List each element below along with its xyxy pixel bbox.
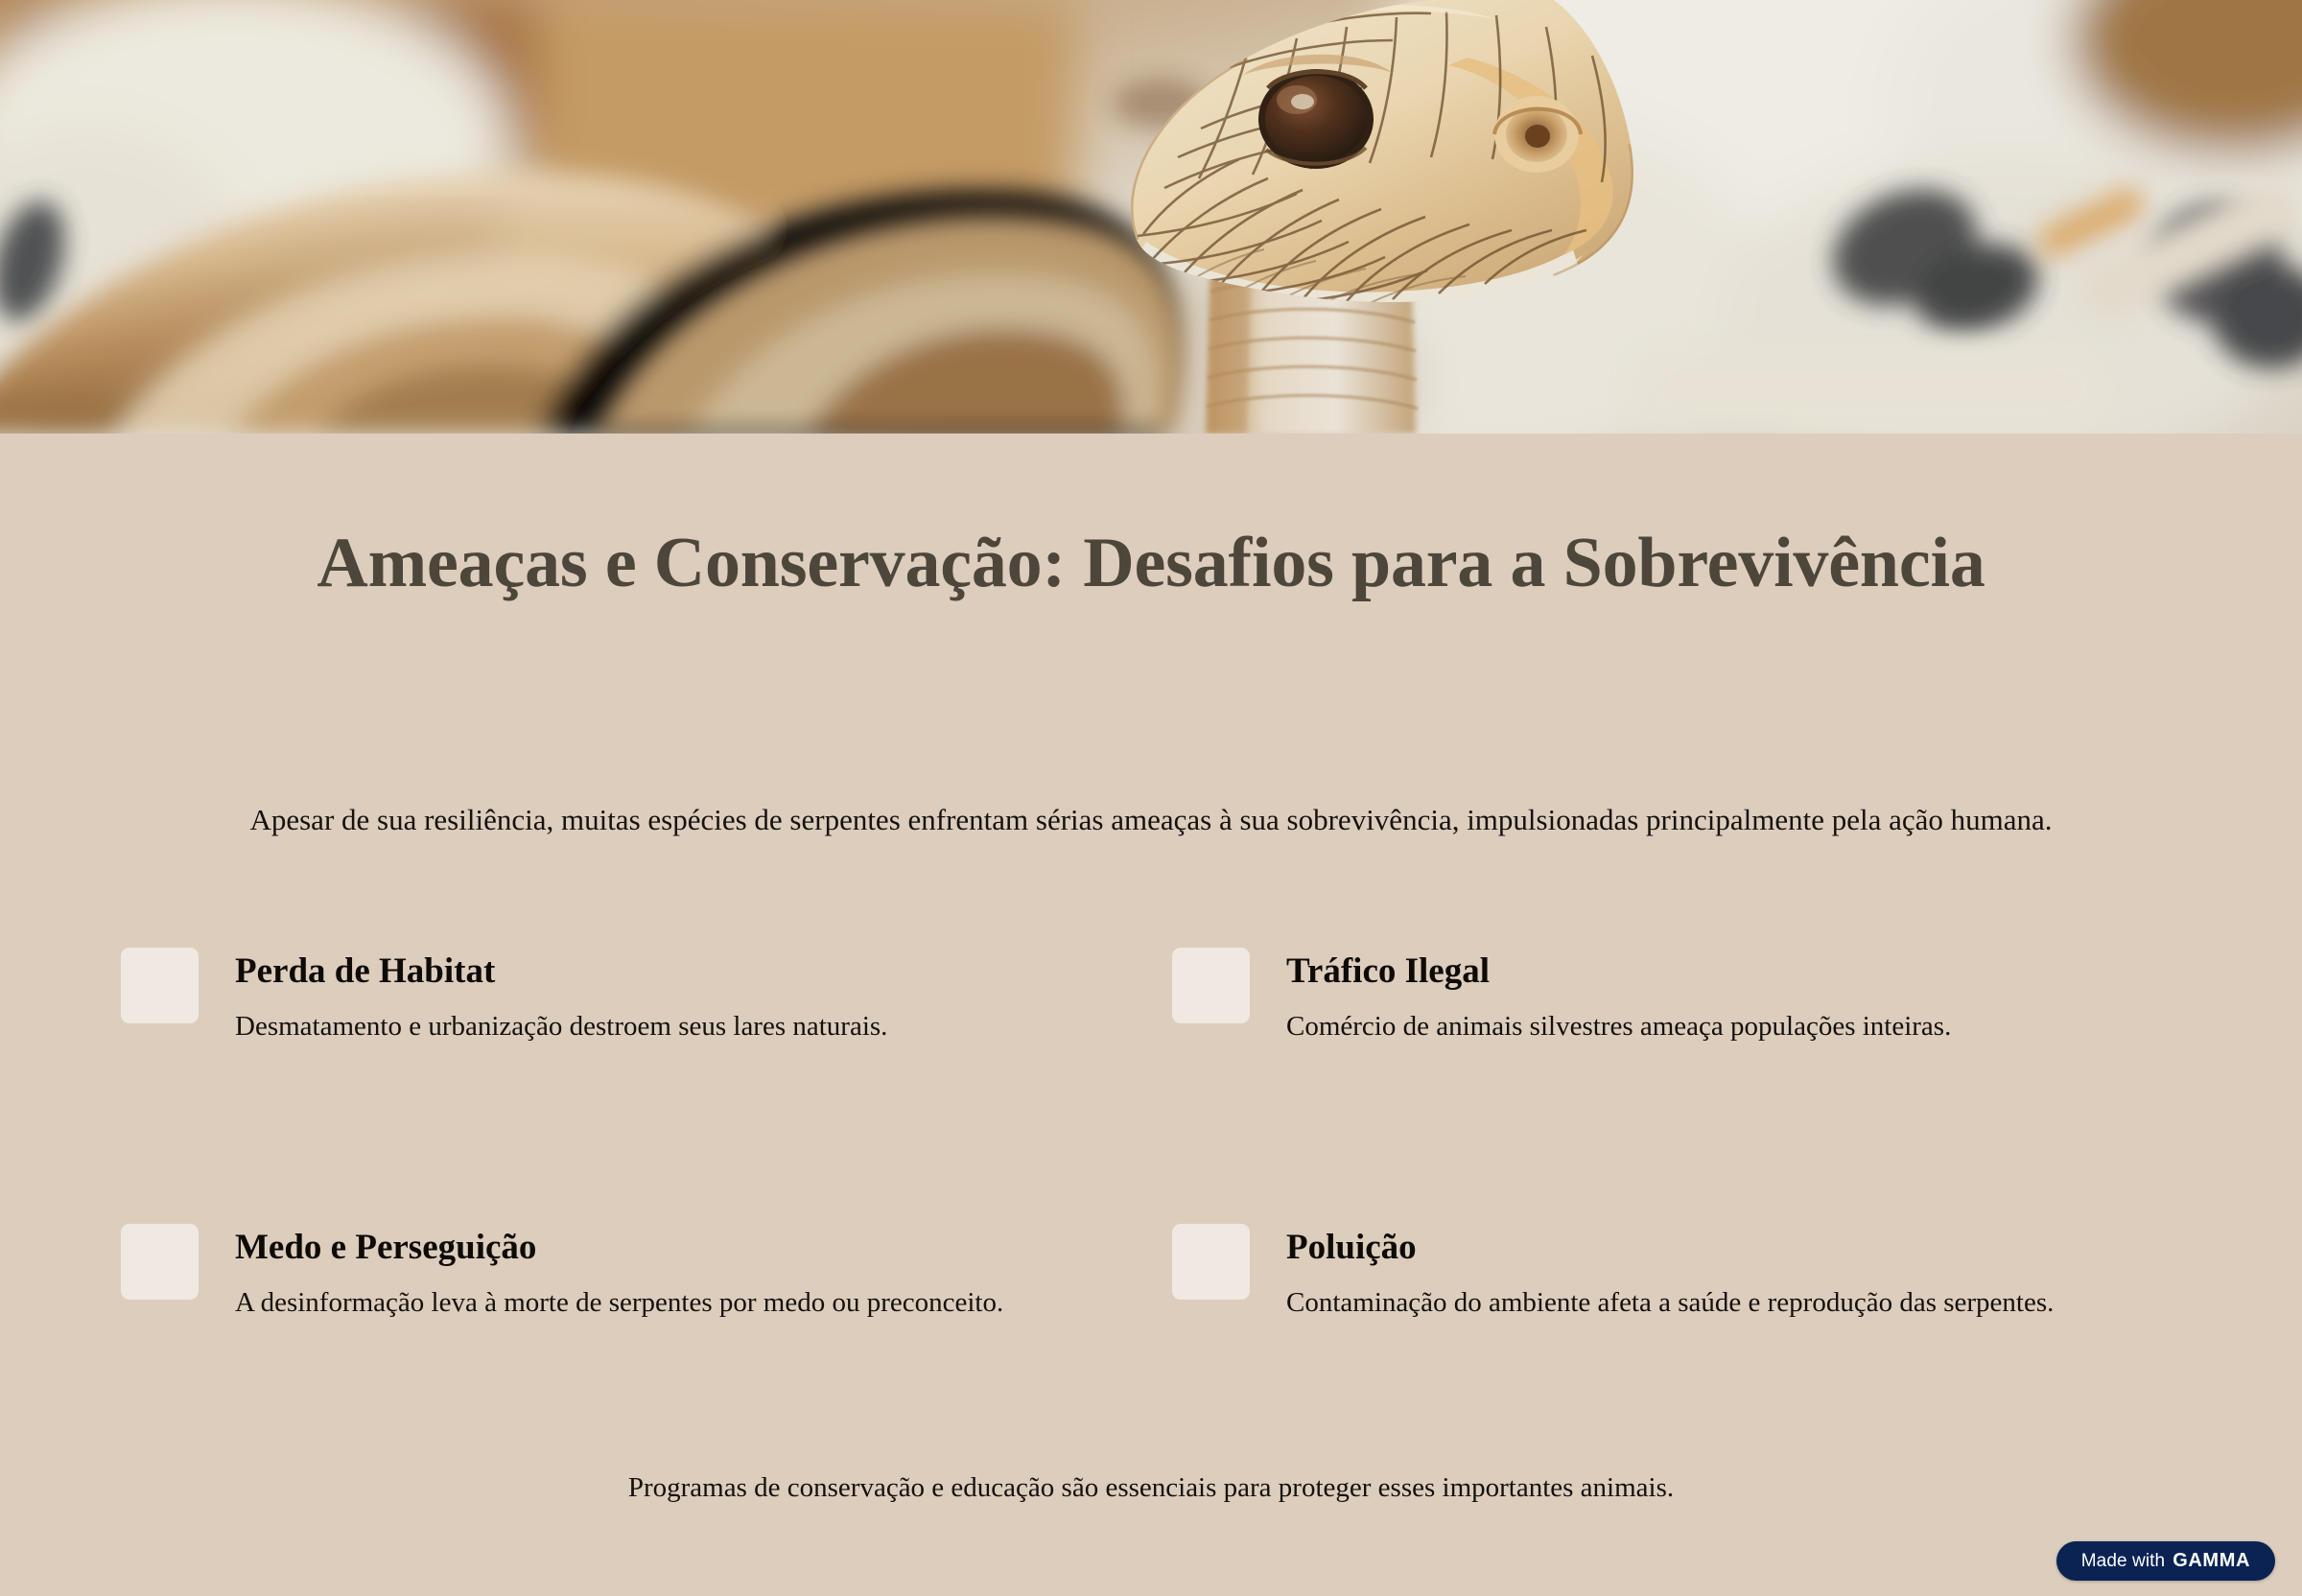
threat-card-illegal-trafficking[interactable]: Tráfico Ilegal Comércio de animais silve… — [1172, 939, 2212, 1127]
page-title: Ameaças e Conservação: Desafios para a S… — [201, 523, 2101, 605]
slide-root: Ameaças e Conservação: Desafios para a S… — [0, 0, 2302, 1596]
placeholder-square-icon — [121, 1224, 199, 1300]
threat-card-fear-persecution[interactable]: Medo e Perseguição A desinformação leva … — [121, 1215, 1172, 1403]
closing-note: Programas de conservação e educação são … — [125, 1467, 2177, 1510]
threat-card-title: Medo e Perseguição — [235, 1215, 1172, 1269]
badge-gamma-wordmark: GAMMA — [2173, 1550, 2250, 1572]
intro-paragraph: Apesar de sua resiliência, muitas espéci… — [125, 796, 2177, 844]
placeholder-square-icon — [121, 948, 199, 1023]
content-panel: Ameaças e Conservação: Desafios para a S… — [0, 434, 2302, 1596]
placeholder-square-icon — [1172, 1224, 1250, 1300]
hero-image — [0, 0, 2302, 434]
threat-card-description: Contaminação do ambiente afeta a saúde e… — [1286, 1280, 2121, 1326]
threat-card-description: A desinformação leva à morte de serpente… — [235, 1280, 1069, 1326]
threat-card-title: Perda de Habitat — [235, 939, 1172, 993]
threat-card-description: Comércio de animais silvestres ameaça po… — [1286, 1004, 2121, 1049]
hero-illustration — [0, 0, 2302, 434]
threat-card-pollution[interactable]: Poluição Contaminação do ambiente afeta … — [1172, 1215, 2212, 1403]
made-with-gamma-badge[interactable]: Made with GAMMA — [2056, 1541, 2275, 1581]
threat-card-habitat-loss[interactable]: Perda de Habitat Desmatamento e urbaniza… — [121, 939, 1172, 1127]
badge-made-with-label: Made with — [2081, 1551, 2166, 1572]
threat-card-description: Desmatamento e urbanização destroem seus… — [235, 1004, 1069, 1049]
threats-grid: Perda de Habitat Desmatamento e urbaniza… — [121, 939, 2212, 1403]
threat-card-title: Poluição — [1286, 1215, 2212, 1269]
placeholder-square-icon — [1172, 948, 1250, 1023]
threat-card-title: Tráfico Ilegal — [1286, 939, 2212, 993]
